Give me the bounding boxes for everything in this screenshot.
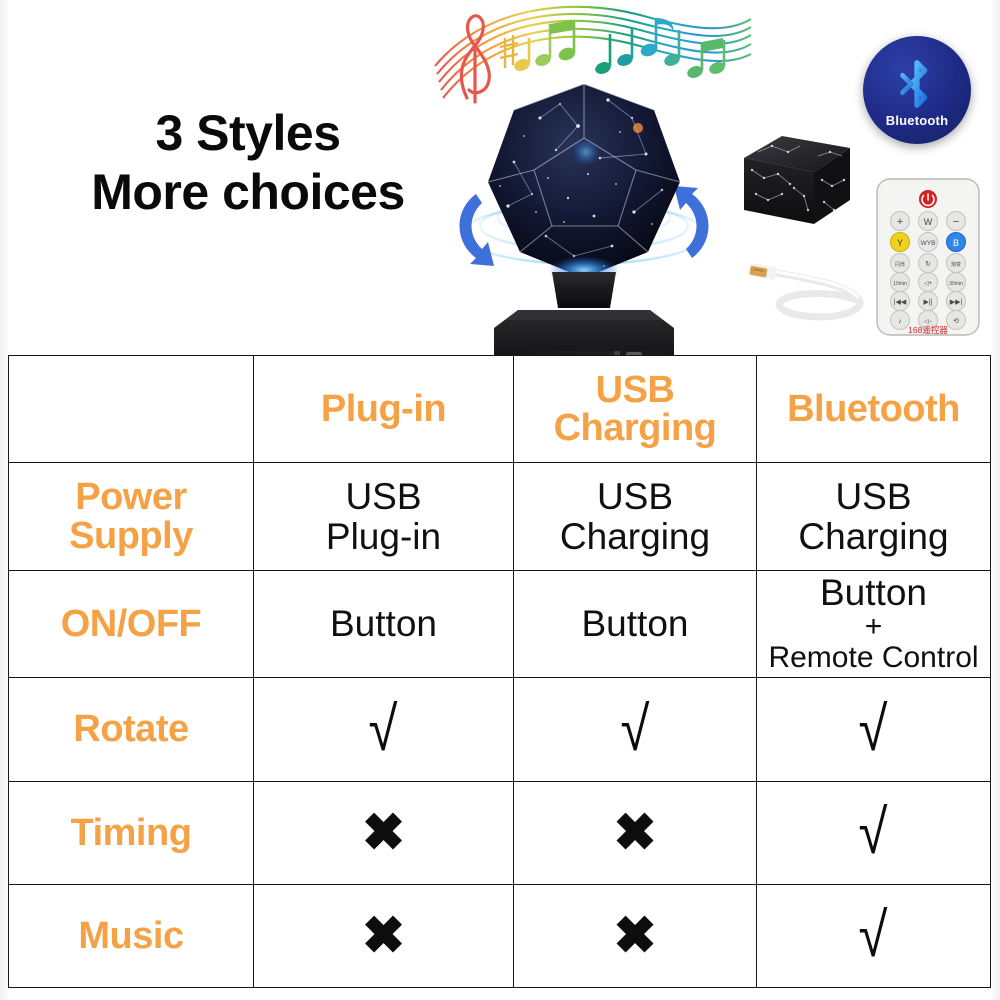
row-label-timing: Timing: [9, 782, 254, 885]
onoff-bt-plus: +: [761, 612, 986, 642]
svg-text:10min: 10min: [893, 281, 907, 287]
remote-model-label: 168遥控器: [908, 325, 948, 335]
cross-icon: ✖: [613, 807, 657, 859]
music-label: Music: [13, 917, 249, 956]
remote-control-image: + W − Y WYB B 闪烁 ↻ 渐变 10min ◁+ 30min |◀◀…: [872, 176, 984, 338]
svg-text:30min: 30min: [949, 281, 963, 287]
cross-icon: ✖: [362, 910, 406, 962]
row-label-music: Music: [9, 885, 254, 988]
svg-text:−: −: [953, 216, 959, 228]
check-icon: √: [369, 699, 398, 761]
onoff-usb-value: Button: [518, 604, 752, 643]
gift-box-image: [738, 128, 856, 230]
ps-usb-line1: USB: [597, 476, 673, 517]
table-header-row: Plug-in USB Charging Bluetooth: [9, 356, 991, 463]
svg-text:⟲: ⟲: [953, 318, 959, 325]
header-cell-blank: [9, 356, 254, 463]
check-icon: √: [859, 699, 888, 761]
svg-text:↻: ↻: [925, 261, 931, 268]
cross-icon: ✖: [362, 807, 406, 859]
ps-plugin-line2: Plug-in: [326, 516, 441, 557]
onoff-bt-line3: Remote Control: [761, 642, 986, 674]
svg-text:▶||: ▶||: [923, 299, 932, 306]
svg-text:▶▶|: ▶▶|: [950, 299, 963, 306]
bluetooth-badge-label: Bluetooth: [886, 113, 948, 128]
hero-section: 3 Styles More choices: [0, 0, 1000, 356]
row-label-onoff: ON/OFF: [9, 571, 254, 678]
power-supply-line1: Power: [75, 476, 187, 518]
feature-comparison-table: Plug-in USB Charging Bluetooth Power Sup: [8, 355, 991, 988]
onoff-label: ON/OFF: [13, 605, 249, 644]
header-cell-plugin: Plug-in: [254, 356, 514, 463]
cell-power-supply-plugin: USB Plug-in: [254, 463, 514, 571]
cell-rotate-bluetooth: √: [757, 678, 991, 782]
svg-text:渐变: 渐变: [951, 261, 961, 268]
power-supply-line2: Supply: [69, 515, 193, 557]
header-cell-bluetooth: Bluetooth: [757, 356, 991, 463]
table-row: Power Supply USB Plug-in USB Charging: [9, 463, 991, 571]
header-usb-line2: Charging: [554, 407, 717, 449]
onoff-plugin-value: Button: [258, 604, 509, 643]
bluetooth-icon: [896, 57, 938, 111]
svg-text:+: +: [897, 216, 903, 228]
header-plugin-label: Plug-in: [258, 390, 509, 428]
svg-text:B: B: [953, 238, 959, 248]
ps-usb-line2: Charging: [560, 516, 710, 557]
timing-label: Timing: [13, 814, 249, 853]
cell-power-supply-bluetooth: USB Charging: [757, 463, 991, 571]
header-cell-usb-charging: USB Charging: [514, 356, 757, 463]
cell-onoff-plugin: Button: [254, 571, 514, 678]
cell-onoff-bluetooth: Button + Remote Control: [757, 571, 991, 678]
product-comparison-page: 3 Styles More choices: [0, 0, 1000, 1000]
header-bluetooth-label: Bluetooth: [761, 390, 986, 428]
page-title: 3 Styles More choices: [48, 104, 448, 222]
headline-line-2: More choices: [48, 163, 448, 222]
ps-bt-line2: Charging: [798, 516, 948, 557]
svg-text:W: W: [924, 217, 933, 227]
cell-timing-plugin: ✖: [254, 782, 514, 885]
check-icon: √: [621, 699, 650, 761]
cell-rotate-usb: √: [514, 678, 757, 782]
cross-icon: ✖: [613, 910, 657, 962]
ps-bt-line1: USB: [835, 476, 911, 517]
cell-music-bluetooth: √: [757, 885, 991, 988]
star-projector-lamp-image: [448, 66, 720, 356]
cell-onoff-usb: Button: [514, 571, 757, 678]
table-row: Timing ✖ ✖ √: [9, 782, 991, 885]
cell-power-supply-usb: USB Charging: [514, 463, 757, 571]
usb-cable-image: [742, 248, 878, 330]
table-row: Music ✖ ✖ √: [9, 885, 991, 988]
svg-text:闪烁: 闪烁: [895, 261, 905, 268]
svg-text:WYB: WYB: [921, 240, 936, 247]
bluetooth-badge: Bluetooth: [863, 36, 971, 144]
svg-text:Y: Y: [897, 238, 903, 248]
headline-line-1: 3 Styles: [48, 104, 448, 163]
cell-rotate-plugin: √: [254, 678, 514, 782]
rotate-label: Rotate: [13, 710, 249, 749]
svg-text:◁+: ◁+: [924, 281, 933, 287]
check-icon: √: [859, 905, 888, 967]
svg-text:♪: ♪: [898, 318, 902, 325]
row-label-rotate: Rotate: [9, 678, 254, 782]
row-label-power-supply: Power Supply: [9, 463, 254, 571]
table-row: Rotate √ √ √: [9, 678, 991, 782]
ps-plugin-line1: USB: [345, 476, 421, 517]
cell-timing-usb: ✖: [514, 782, 757, 885]
cell-music-plugin: ✖: [254, 885, 514, 988]
check-icon: √: [859, 802, 888, 864]
cell-music-usb: ✖: [514, 885, 757, 988]
header-usb-line1: USB: [596, 369, 675, 411]
cell-timing-bluetooth: √: [757, 782, 991, 885]
svg-text:|◀◀: |◀◀: [894, 299, 907, 306]
table-row: ON/OFF Button Button Button + Remote Con…: [9, 571, 991, 678]
onoff-bt-line1: Button: [820, 572, 927, 613]
